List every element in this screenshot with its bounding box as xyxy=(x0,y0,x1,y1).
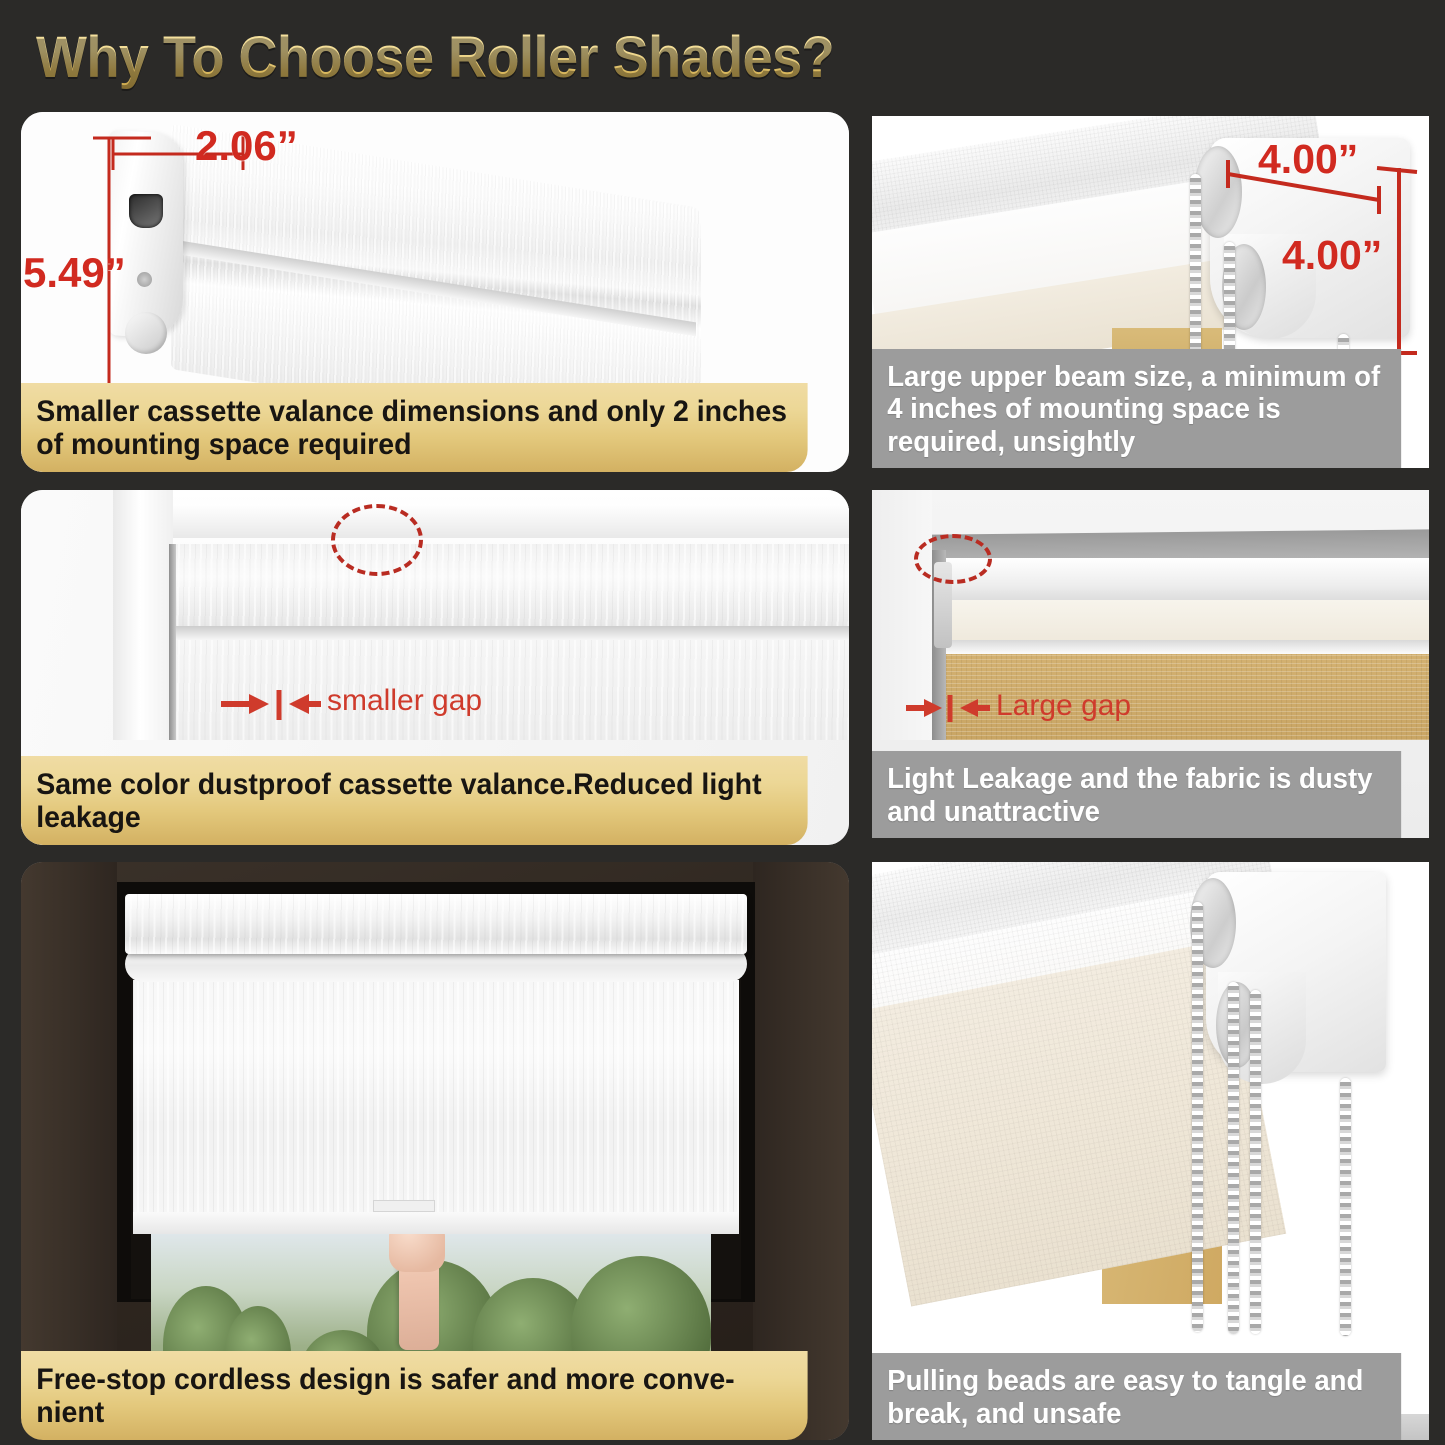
panel-dustproof-cassette-valance: smaller gap Same color dustproof cassett… xyxy=(21,490,849,845)
panel-caption-light-leakage-dusty-fabric: Light Leakage and the fabric is dusty an… xyxy=(872,751,1401,838)
panel-light-leakage-dusty-fabric: Large gap Light Leakage and the fabric i… xyxy=(872,490,1429,838)
dimension-label-width: 2.06” xyxy=(195,122,298,170)
cassette-valance-icon xyxy=(125,894,747,954)
brand-tag xyxy=(373,1200,435,1212)
bead-chain-icon xyxy=(1192,902,1203,1332)
gap-callout-label: Large gap xyxy=(996,689,1131,723)
panel-pulling-beads-unsafe: Pulling beads are easy to tangle and bre… xyxy=(872,862,1429,1440)
page-title: Why To Choose Roller Shades? xyxy=(36,24,834,91)
panel-caption-pulling-beads-unsafe: Pulling beads are easy to tangle and bre… xyxy=(872,1353,1401,1440)
gap-callout-label: smaller gap xyxy=(327,684,482,718)
panel-caption-large-upper-beam: Large upper beam size, a minimum of 4 in… xyxy=(872,349,1401,468)
panel-large-upper-beam: 4.00” 4.00” Large upper beam size, a min… xyxy=(872,116,1429,468)
comparison-grid: 2.06” 5.49” Smaller cassette valance dim… xyxy=(0,112,1445,1442)
panel-caption-free-stop-cordless-design: Free-stop cordless design is safer and m… xyxy=(21,1351,808,1440)
dimension-label-height: 4.00” xyxy=(1282,232,1382,279)
panel-cassette-valance-dimensions: 2.06” 5.49” Smaller cassette valance dim… xyxy=(21,112,849,472)
panel-caption-dustproof-cassette-valance: Same color dustproof cassette valance.Re… xyxy=(21,756,808,845)
panel-caption-cassette-valance-dimensions: Smaller cassette valance dimensions and … xyxy=(21,383,808,472)
panel-free-stop-cordless-design: Free-stop cordless design is safer and m… xyxy=(21,862,849,1440)
dimension-label-height: 5.49” xyxy=(23,249,126,297)
bead-chain-icon xyxy=(1340,1078,1351,1336)
bead-chain-icon xyxy=(1250,990,1261,1334)
bead-chain-icon xyxy=(1228,982,1239,1334)
dimension-label-width: 4.00” xyxy=(1258,136,1358,183)
